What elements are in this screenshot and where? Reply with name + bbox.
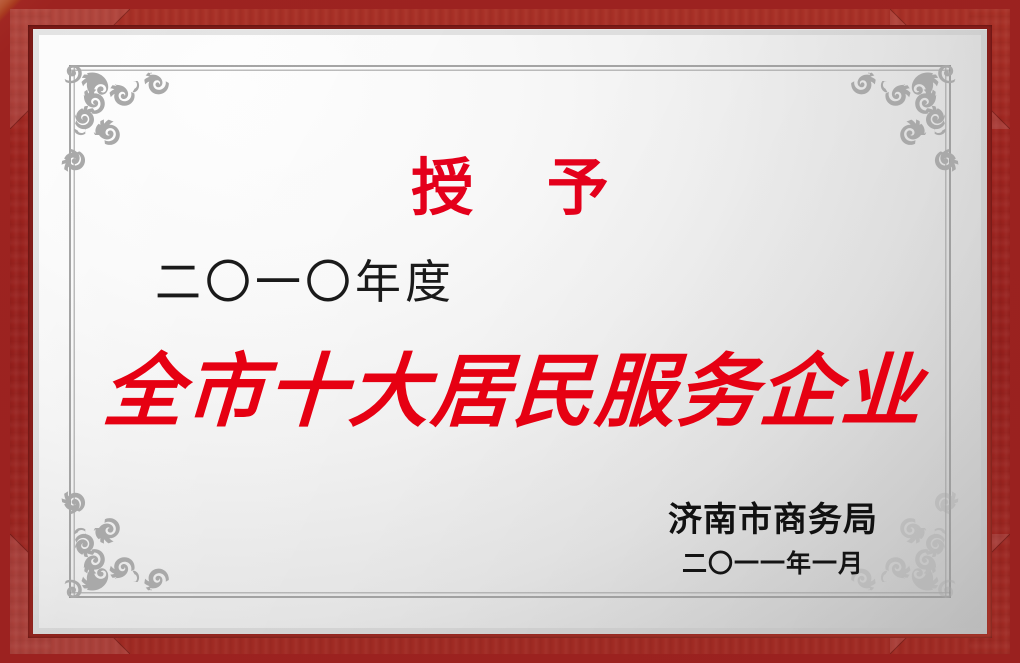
issuer-name-text: 济南市商务局 xyxy=(643,501,903,540)
award-title-text: 全市十大居民服务企业 xyxy=(101,351,919,431)
award-verb-text: 授 予 xyxy=(103,157,917,219)
border-rule-right xyxy=(944,65,951,598)
award-plaque: 授 予 二〇一〇年度 全市十大居民服务企业 济南市商务局 二〇一一年一月 xyxy=(0,0,1020,663)
border-rule-left xyxy=(69,65,76,598)
border-rule-bottom xyxy=(69,591,951,598)
issuer-block: 济南市商务局 二〇一一年一月 xyxy=(643,501,903,579)
plaque-content: 授 予 二〇一〇年度 全市十大居民服务企业 济南市商务局 二〇一一年一月 xyxy=(103,89,917,576)
border-rule-top xyxy=(69,65,951,72)
award-year-text: 二〇一〇年度 xyxy=(155,259,455,305)
plaque-face: 授 予 二〇一〇年度 全市十大居民服务企业 济南市商务局 二〇一一年一月 xyxy=(33,29,987,634)
issuer-date-text: 二〇一一年一月 xyxy=(643,550,903,579)
